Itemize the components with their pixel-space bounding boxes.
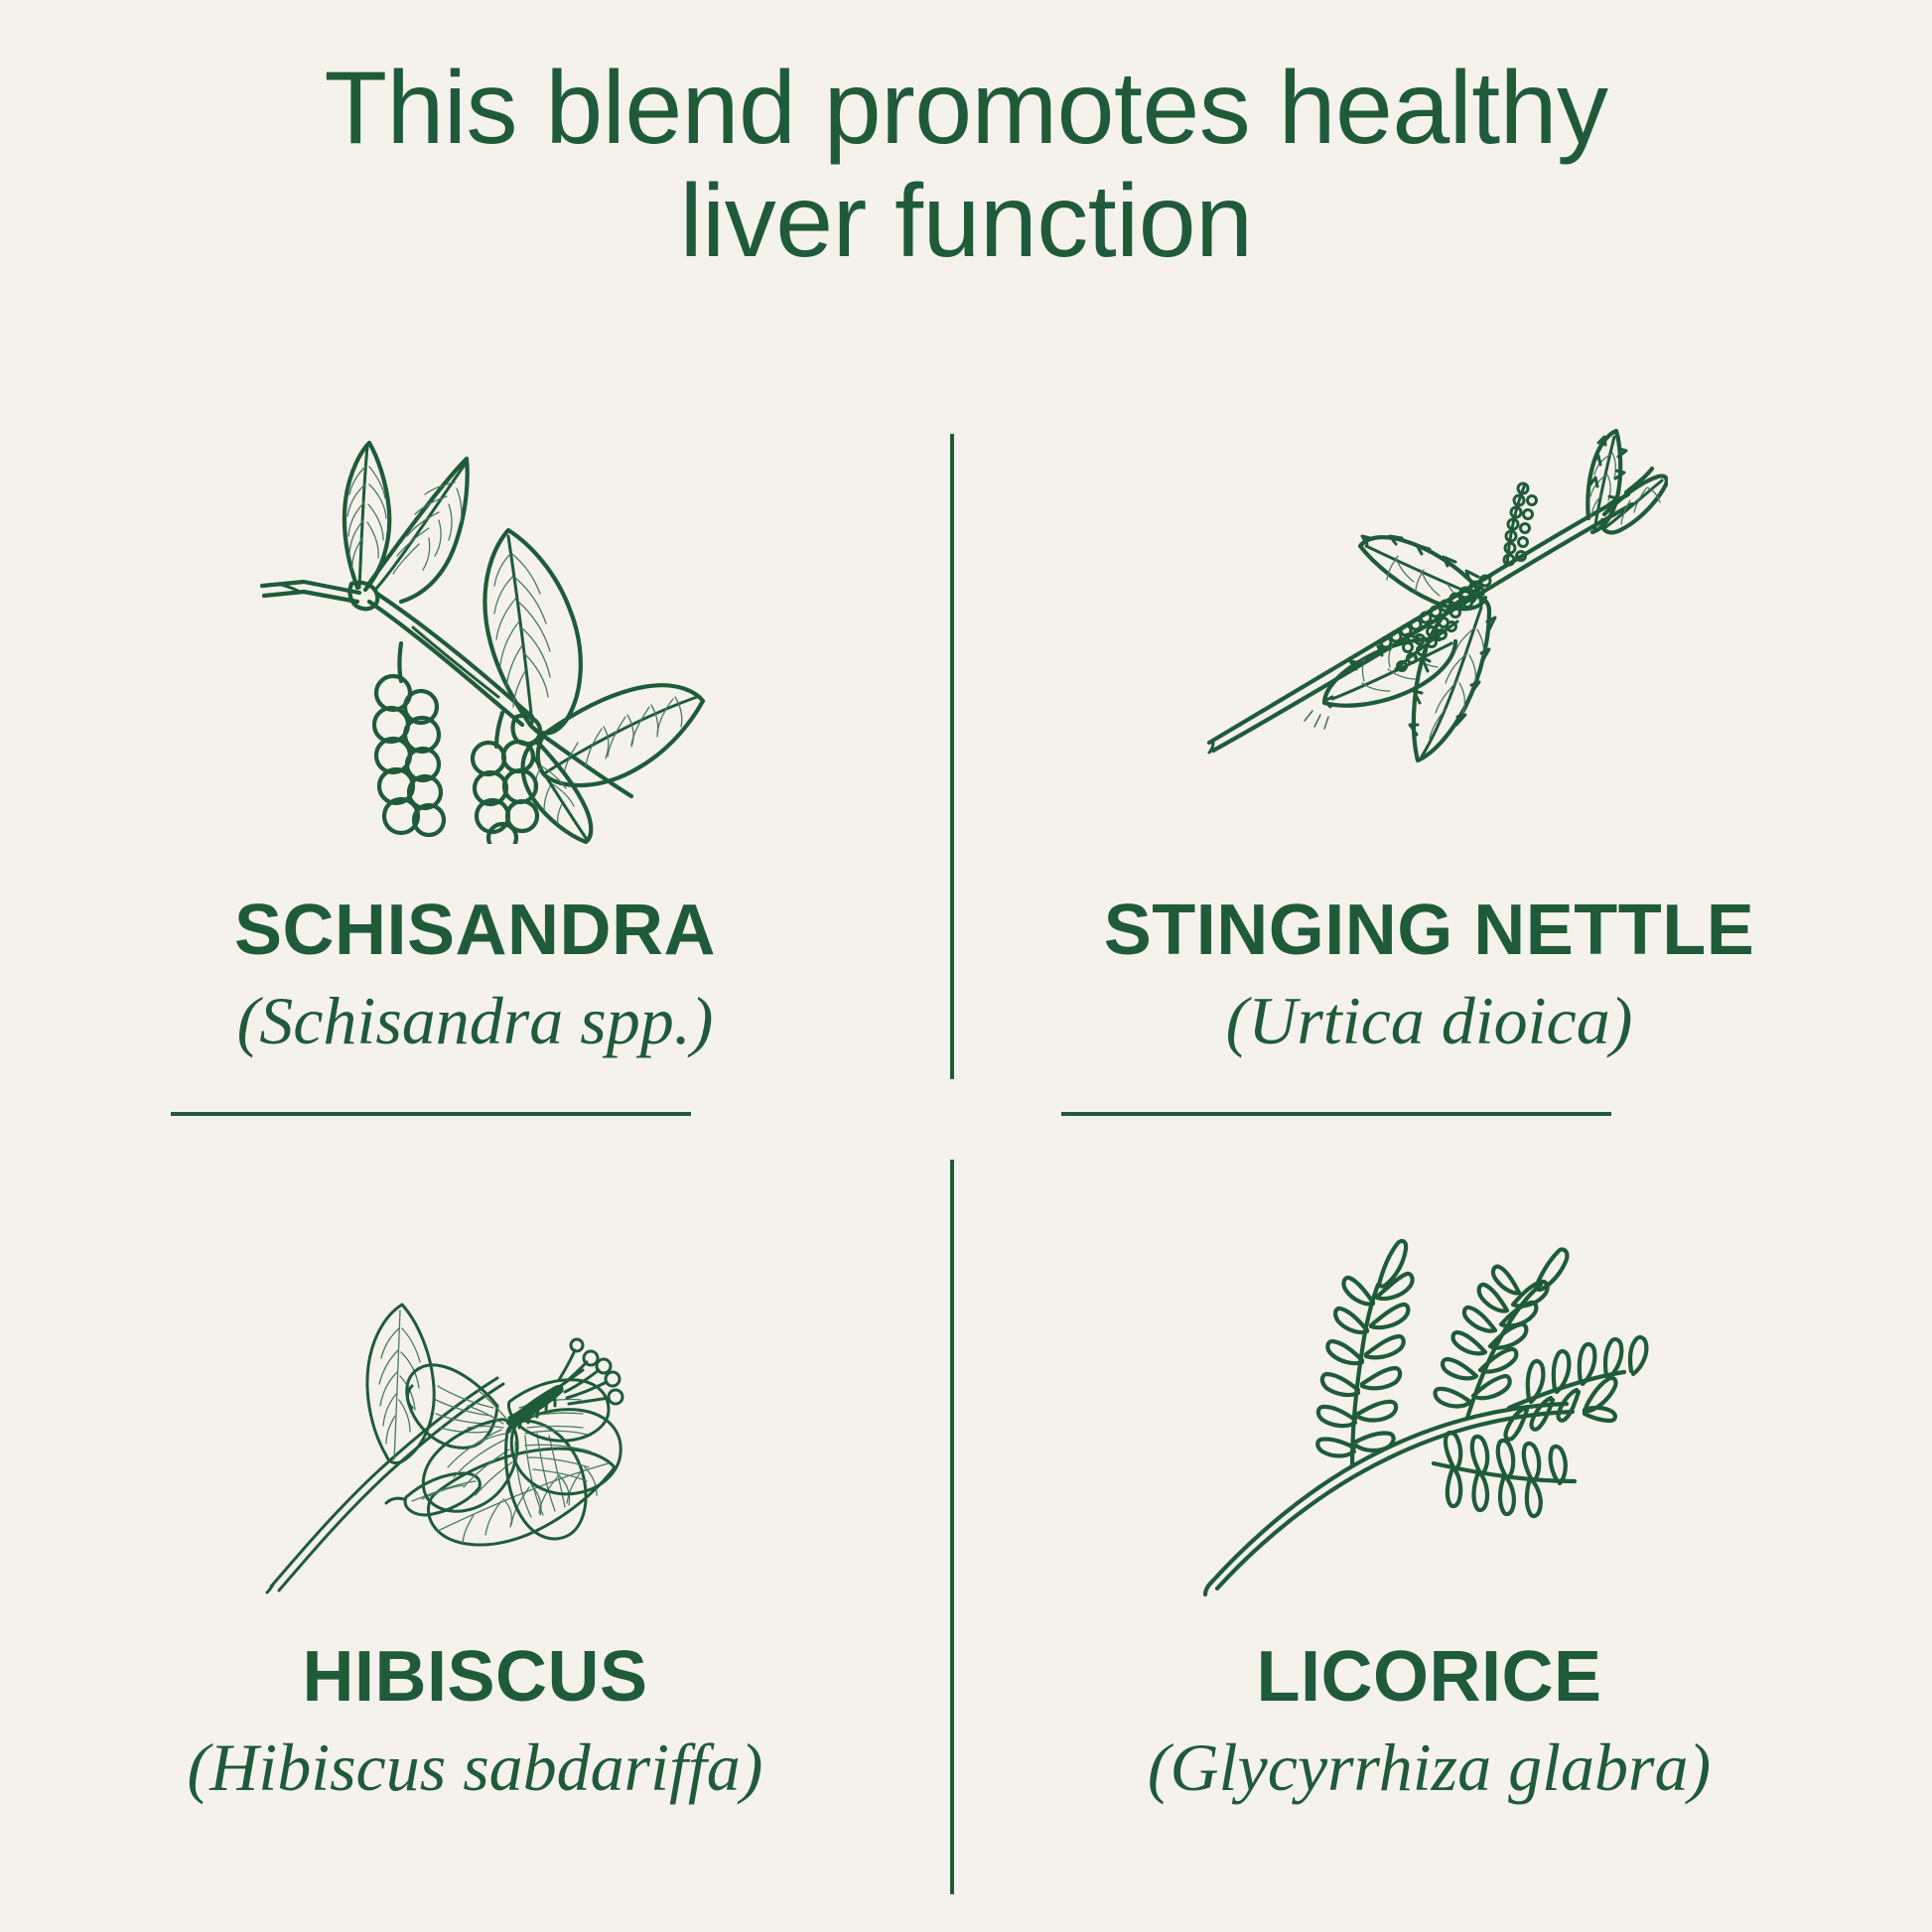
caption-stinging-nettle: STINGING NETTLE (Urtica dioica): [954, 894, 1904, 1063]
page-title: This blend promotes healthy liver functi…: [0, 52, 1932, 279]
hibiscus-flower-illustration: [0, 1152, 950, 1628]
latin-name: (Urtica dioica): [954, 979, 1904, 1063]
page-title-line-1: This blend promotes healthy: [0, 52, 1932, 165]
ingredient-card-stinging-nettle: STINGING NETTLE (Urtica dioica): [954, 397, 1904, 1122]
schisandra-berries-illustration: [0, 397, 950, 874]
caption-schisandra: SCHISANDRA (Schisandra spp.): [0, 894, 950, 1063]
latin-name: (Glycyrrhiza glabra): [954, 1725, 1904, 1810]
page-title-line-2: liver function: [0, 165, 1932, 278]
common-name: STINGING NETTLE: [954, 894, 1904, 969]
caption-licorice: LICORICE (Glycyrrhiza glabra): [954, 1640, 1904, 1810]
stinging-nettle-illustration: [954, 397, 1904, 874]
ingredient-card-schisandra: SCHISANDRA (Schisandra spp.): [0, 397, 950, 1122]
latin-name: (Schisandra spp.): [0, 979, 950, 1063]
ingredient-card-licorice: LICORICE (Glycyrrhiza glabra): [954, 1152, 1904, 1876]
licorice-sprig-illustration: [954, 1152, 1904, 1628]
caption-hibiscus: HIBISCUS (Hibiscus sabdariffa): [0, 1640, 950, 1810]
ingredient-panel: This blend promotes healthy liver functi…: [0, 0, 1932, 1932]
common-name: SCHISANDRA: [0, 894, 950, 969]
common-name: HIBISCUS: [0, 1640, 950, 1716]
ingredient-card-hibiscus: HIBISCUS (Hibiscus sabdariffa): [0, 1152, 950, 1876]
common-name: LICORICE: [954, 1640, 1904, 1716]
latin-name: (Hibiscus sabdariffa): [0, 1725, 950, 1810]
